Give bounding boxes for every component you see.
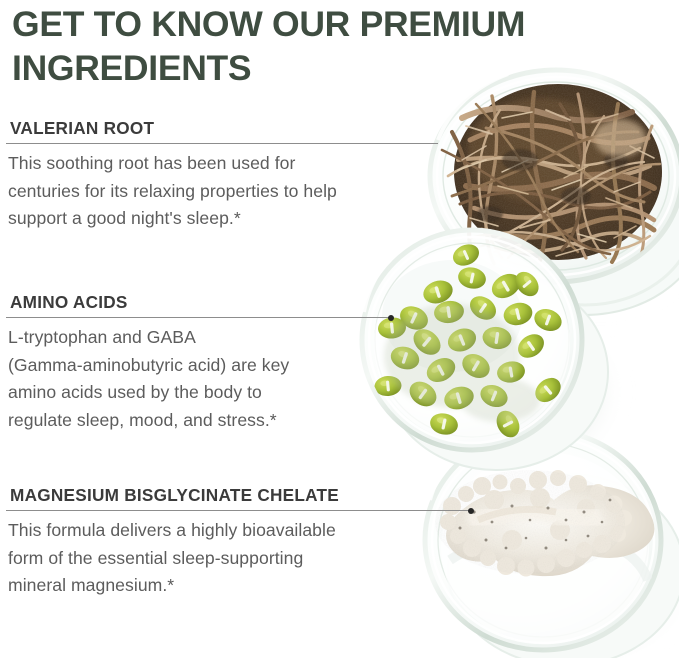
section-heading-magnesium: MAGNESIUM BISGLYCINATE CHELATE: [10, 485, 339, 506]
section-body-valerian-root: This soothing root has been used for cen…: [8, 150, 337, 233]
leader-line-amino-acids: [6, 317, 391, 318]
section-body-magnesium: This formula delivers a highly bioavaila…: [8, 517, 336, 600]
ingredients-infographic: GET TO KNOW OUR PREMIUM INGREDIENTS VALE…: [0, 0, 679, 658]
leader-dot-amino-acids: [388, 315, 394, 321]
leader-line-magnesium: [6, 510, 471, 511]
leader-dot-magnesium: [468, 508, 474, 514]
section-heading-valerian-root: VALERIAN ROOT: [10, 118, 154, 139]
page-title: GET TO KNOW OUR PREMIUM INGREDIENTS: [12, 2, 652, 90]
section-body-amino-acids: L-tryptophan and GABA (Gamma-aminobutyri…: [8, 324, 289, 434]
leader-line-valerian-root: [6, 143, 438, 144]
section-heading-amino-acids: AMINO ACIDS: [10, 292, 128, 313]
